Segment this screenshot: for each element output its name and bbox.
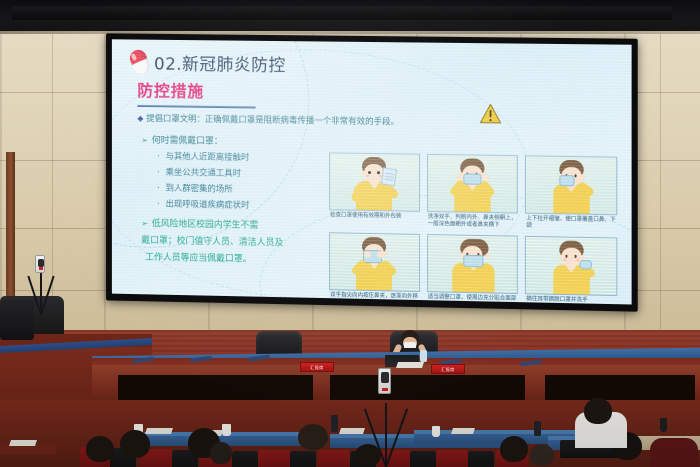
audience-person-red [650,438,698,467]
caption-progress-bar [329,299,391,304]
step-caption-text: 摘住耳带摘脱口罩并洗手 [526,296,587,303]
step-caption: 检查口罩使用有效期和外包装 [329,212,420,221]
slide-body: ➢何时需佩戴口罩： ·与其他人近距离接触时 ·乘坐公共交通工具时 ·到人群密集的… [131,128,619,305]
audience-person [530,444,554,466]
water-bottle[interactable] [660,418,667,432]
step-caption: 适当调整口罩，使周边充分贴合面部 [427,294,518,303]
name-plate: 汇报席 [431,364,465,374]
led-display-panel[interactable]: 02.新冠肺炎防控 防控措施 ◆提倡口罩文明：正确佩戴口罩是阻断病毒传播一个非常… [106,33,638,311]
water-bottle[interactable] [331,415,338,432]
audience-seat[interactable] [232,451,258,467]
paper-cup[interactable] [222,424,231,436]
bullet-label: 到人群密集的场所 [166,184,233,195]
highlight-label: 低风险地区校园内学生不需 [152,219,259,231]
table-front-panel [330,375,525,401]
audience-seat[interactable] [290,451,316,467]
water-bottle[interactable] [534,421,541,436]
name-plate-text: 汇报席 [432,365,464,374]
loudspeaker [0,300,34,340]
lead-text: 提倡口罩文明：正确佩戴口罩是阻断病毒传播一个非常有效的手段。 [146,114,399,127]
audience-person [298,424,328,450]
step-caption: 上下拉开褶皱，使口罩覆盖口鼻、下颌 [525,216,617,233]
bullet-label: 与其他人近距离接触时 [166,152,250,163]
mask-step-cell: 检查口罩使用有效期和外包装 [329,152,420,228]
audience-seat[interactable] [468,451,494,467]
slide-screen: 02.新冠肺炎防控 防控措施 ◆提倡口罩文明：正确佩戴口罩是阻断病毒传播一个非常… [112,39,632,304]
camera-body-icon[interactable] [378,368,391,394]
step-caption: 双手指尖向内按压鼻夹，逐渐向外移 [329,292,420,301]
slide-section-title: 02.新冠肺炎防控 [154,50,286,76]
bullet-item: ·到人群密集的场所 [157,182,321,197]
caption-progress-bar [427,301,506,304]
slide-content: 02.新冠肺炎防控 防控措施 ◆提倡口罩文明：正确佩戴口罩是阻断病毒传播一个非常… [112,39,632,304]
camera-record-button [39,267,43,270]
audience-seat[interactable] [318,450,350,467]
step-figure-4 [329,232,420,292]
warning-triangle-icon [479,103,501,123]
caption-progress-bar [511,303,604,304]
step-figure-2 [427,154,518,214]
slide-subtitle: 防控措施 [137,77,619,107]
name-plate-text: 汇报席 [301,363,333,372]
audience-person [86,436,114,462]
camera-body-icon[interactable] [35,255,45,273]
title-underline [137,105,255,109]
arrow-bullet-icon: ➢ [141,136,148,145]
camera-lens-icon [381,372,389,383]
auditorium-photo: 02.新冠肺炎防控 防控措施 ◆提倡口罩文明：正确佩戴口罩是阻断病毒传播一个非常… [0,0,700,467]
wall-seam [660,0,661,330]
notebook[interactable] [339,428,365,434]
camera-on-tripod[interactable] [368,368,402,467]
diamond-bullet-icon: ◆ [137,114,143,123]
valance-strip [12,6,672,20]
audience-seat[interactable] [258,450,290,467]
audience-seat[interactable] [436,450,468,467]
step-figure-1 [329,152,420,211]
mask-step-cell: 洗净双手、判断内外、鼻夹侧朝上，一般深色面朝外或者鼻夹横下 [427,154,518,231]
name-plate: 汇报席 [300,362,334,372]
capsule-pill-icon [127,47,152,76]
paper-cup[interactable] [432,426,440,437]
step-caption-text: 双手指尖向内按压鼻夹，逐渐向外移 [330,292,418,300]
step-caption: 摘住耳带摘脱口罩并洗手 [525,296,617,304]
slide-heading-row: 02.新冠肺炎防控 [131,49,619,80]
audience-person [500,436,528,462]
bullet-item: ·乘坐公共交通工具时 [157,166,321,181]
mask-step-cell: 上下拉开褶皱，使口罩覆盖口鼻、下颌 [525,155,617,232]
dot-bullet-icon: · [157,184,160,194]
continuation-line: 戴口罩；校门值守人员、清洁人员及 [141,233,321,249]
audience-person [120,430,150,458]
step-caption-text: 适当调整口罩，使周边充分贴合面部 [428,294,517,302]
step-figure-3 [525,155,617,215]
dot-bullet-icon: · [157,168,160,178]
mask-step-cell: 双手指尖向内按压鼻夹，逐渐向外移 [329,232,420,304]
slide-lead-text: ◆提倡口罩文明：正确佩戴口罩是阻断病毒传播一个非常有效的手段。 [137,112,619,131]
mask-steps-grid: 检查口罩使用有效期和外包装 [329,130,619,304]
step-figure-5 [427,234,518,294]
dot-bullet-icon: · [157,199,160,209]
camera-record-button [382,388,388,391]
camera-lens-icon [38,259,44,267]
bullet-label: 出现呼吸道疾病症状时 [166,200,250,211]
arrow-bullet-icon: ➢ [141,219,148,228]
highlight-bullet: ➢低风险地区校园内学生不需 [141,216,321,232]
audience-seat[interactable] [410,451,436,467]
bullet-label: 乘坐公共交通工具时 [166,168,241,179]
table-front-panel [545,375,695,401]
water-bottle[interactable] [420,350,427,362]
bullet-column: ➢何时需佩戴口罩： ·与其他人近距离接触时 ·乘坐公共交通工具时 ·到人群密集的… [131,128,321,305]
step-caption: 洗净双手、判断内外、鼻夹侧朝上，一般深色面朝外或者鼻夹横下 [427,214,518,231]
ceiling-valance [0,0,700,34]
notebook[interactable] [9,440,37,446]
bullet-label: 何时需佩戴口罩： [152,136,223,147]
bullet-item: ·出现呼吸道疾病症状时 [157,197,321,212]
bullet-item: ➢何时需佩戴口罩： [141,133,321,149]
mask-step-cell: 摘住耳带摘脱口罩并洗手 [525,236,617,305]
bullet-item: ·与其他人近距离接触时 [157,150,321,164]
mask-step-cell: 适当调整口罩，使周边充分贴合面部 [427,234,518,305]
notebook[interactable] [145,428,173,434]
audience-person [210,442,232,464]
table-front-panel [118,375,313,401]
slide-section-number: 02. [154,55,182,75]
step-figure-6 [525,236,617,296]
continuation-line: 工作人员等应当佩戴口罩。 [145,250,321,266]
dot-bullet-icon: · [157,152,160,162]
notebook[interactable] [451,428,475,434]
audience-person-head [584,398,612,424]
slide-section-name: 新冠肺炎防控 [182,55,286,76]
